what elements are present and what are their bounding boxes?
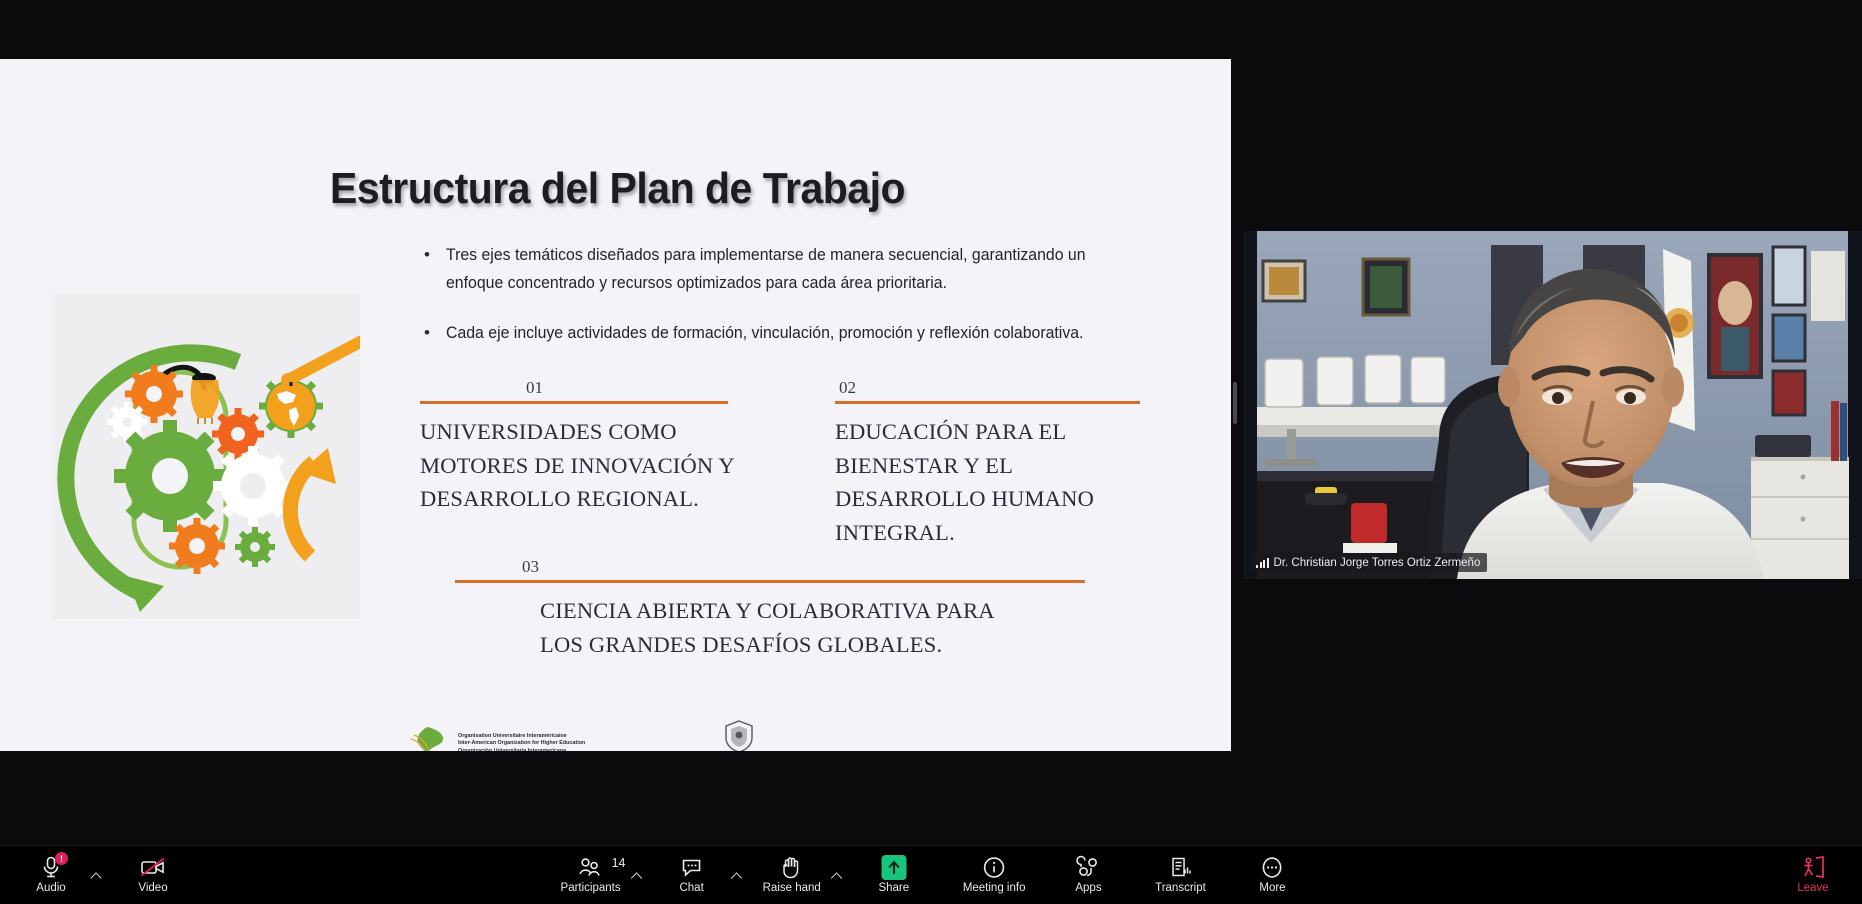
meeting-toolbar: ! Audio Video — [0, 845, 1862, 904]
leave-label: Leave — [1797, 882, 1828, 895]
stage-resize-handle[interactable] — [1233, 382, 1237, 424]
oui-iohe-logo: OUI IOHE Organisation Universitaire Inte… — [408, 725, 585, 751]
meeting-info-button[interactable]: Meeting info — [955, 849, 1034, 901]
leave-button[interactable]: Leave — [1776, 849, 1850, 901]
university-crest-icon — [722, 719, 756, 751]
chevron-up-icon — [90, 872, 101, 883]
toolbar-right-group: Leave — [1776, 846, 1850, 904]
axis-rule — [420, 401, 728, 404]
apps-icon — [1076, 855, 1101, 879]
share-screen-icon — [881, 855, 906, 879]
chevron-up-icon — [831, 872, 842, 883]
chat-options-caret[interactable] — [729, 846, 745, 898]
raise-hand-label: Raise hand — [763, 882, 821, 895]
bullet-dot-icon: • — [424, 319, 446, 347]
video-label: Video — [138, 882, 167, 895]
meeting-info-label: Meeting info — [963, 882, 1026, 895]
shared-slide[interactable]: Estructura del Plan de Trabajo • Tres ej… — [0, 59, 1231, 751]
raised-hand-icon — [781, 855, 803, 879]
list-item: • Cada eje incluye actividades de formac… — [424, 319, 1164, 347]
axis-rule — [455, 580, 1085, 583]
participant-name: Dr. Christian Jorge Torres Ortiz Zermeño — [1274, 557, 1481, 569]
list-item: • Tres ejes temáticos diseñados para imp… — [424, 241, 1164, 297]
ellipsis-icon — [1261, 855, 1284, 879]
camera-off-icon — [140, 855, 166, 879]
more-button[interactable]: More — [1235, 849, 1309, 901]
axis-number: 02 — [839, 378, 856, 398]
participants-button[interactable]: 14 Participants — [553, 849, 629, 901]
chat-button[interactable]: Chat — [655, 849, 729, 901]
slide-title: Estructura del Plan de Trabajo — [330, 164, 905, 214]
bullet-text: Cada eje incluye actividades de formació… — [446, 319, 1135, 347]
americas-map-icon: OUI IOHE — [408, 725, 454, 751]
apps-button[interactable]: Apps — [1051, 849, 1125, 901]
people-icon: 14 — [578, 855, 604, 879]
leave-door-icon — [1801, 855, 1825, 879]
meeting-window: Estructura del Plan de Trabajo • Tres ej… — [0, 0, 1862, 904]
gears-lightbulb-globe-illustration — [52, 294, 360, 619]
bullet-text: Tres ejes temáticos diseñados para imple… — [446, 241, 1135, 297]
participants-label: Participants — [561, 882, 621, 895]
toolbar-center-group: 14 Participants Chat — [553, 846, 1310, 904]
oui-name-fr: Organisation Universitaire Interaméricai… — [458, 733, 585, 741]
chevron-up-icon — [631, 872, 642, 883]
axis-number: 01 — [526, 378, 543, 398]
participant-video-tile[interactable]: Dr. Christian Jorge Torres Ortiz Zermeño — [1243, 231, 1862, 579]
transcript-icon — [1169, 855, 1191, 879]
participants-options-caret[interactable] — [629, 846, 645, 898]
slide-bullet-list: • Tres ejes temáticos diseñados para imp… — [424, 241, 1164, 369]
oui-name-en: Inter-American Organization for Higher E… — [458, 740, 585, 748]
chat-bubble-icon — [681, 855, 703, 879]
audio-options-caret[interactable] — [88, 846, 104, 898]
oui-name-es: Organización Universitaria Interamerican… — [458, 748, 585, 751]
participants-count: 14 — [612, 856, 626, 870]
presentation-stage: Estructura del Plan de Trabajo • Tres ej… — [0, 0, 1862, 846]
audio-button[interactable]: ! Audio — [14, 849, 88, 901]
axis-text: UNIVERSIDADES COMO MOTORES DE INNOVACIÓN… — [420, 415, 750, 516]
info-circle-icon — [983, 855, 1006, 879]
axis-rule — [835, 401, 1140, 404]
more-label: More — [1259, 882, 1285, 895]
axis-number: 03 — [522, 557, 539, 577]
transcript-button[interactable]: Transcript — [1143, 849, 1217, 901]
axis-text: EDUCACIÓN PARA EL BIENESTAR Y EL DESARRO… — [835, 415, 1145, 549]
share-button[interactable]: Share — [857, 849, 931, 901]
video-button[interactable]: Video — [116, 849, 190, 901]
toolbar-left-group: ! Audio Video — [14, 846, 190, 904]
signal-strength-icon — [1256, 558, 1269, 568]
participant-name-badge: Dr. Christian Jorge Torres Ortiz Zermeño — [1251, 553, 1487, 572]
oui-fullnames: Organisation Universitaire Interaméricai… — [458, 733, 585, 751]
transcript-label: Transcript — [1155, 882, 1206, 895]
audio-label: Audio — [36, 882, 65, 895]
participant-video-feed — [1243, 231, 1862, 579]
raise-hand-button[interactable]: Raise hand — [755, 849, 829, 901]
universidad-de-colima-logo: Universidad de Colima — [681, 719, 796, 751]
microphone-icon: ! — [41, 855, 61, 879]
apps-label: Apps — [1075, 882, 1101, 895]
bullet-dot-icon: • — [424, 241, 446, 297]
slide-footer-logos: OUI IOHE Organisation Universitaire Inte… — [408, 719, 796, 751]
raise-hand-options-caret[interactable] — [829, 846, 845, 898]
axis-text: CIENCIA ABIERTA Y COLABORATIVA PARA LOS … — [540, 594, 1010, 661]
chevron-up-icon — [731, 872, 742, 883]
audio-alert-badge: ! — [55, 852, 68, 865]
chat-label: Chat — [679, 882, 703, 895]
share-label: Share — [878, 882, 909, 895]
